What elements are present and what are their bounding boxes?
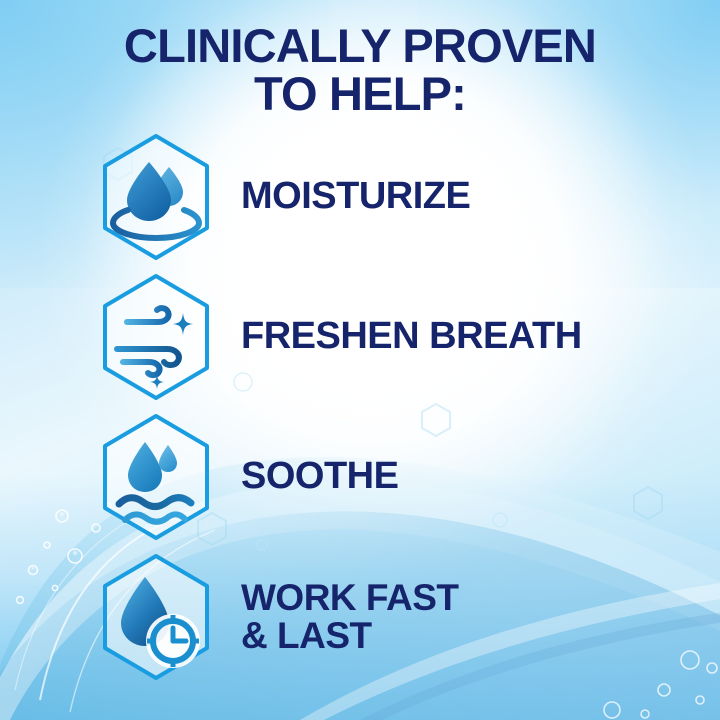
benefit-label-soothe: SOOTHE xyxy=(241,457,398,496)
benefit-item-soothe: SOOTHE xyxy=(0,407,720,547)
hex-badge-work-fast-and-last xyxy=(97,551,215,683)
headline-line-1: CLINICALLY PROVEN xyxy=(0,22,720,70)
headline: CLINICALLY PROVEN TO HELP: xyxy=(0,22,720,118)
benefit-item-freshen-breath: FRESHEN BREATH xyxy=(0,267,720,407)
hex-badge-freshen-breath xyxy=(97,271,215,403)
hex-badge-moisturize xyxy=(97,131,215,263)
droplet-waves-icon xyxy=(97,411,215,543)
benefit-label-work-fast-and-last: WORK FAST & LAST xyxy=(241,579,458,655)
water-droplets-ripple-icon xyxy=(97,131,215,263)
benefit-item-moisturize: MOISTURIZE xyxy=(0,127,720,267)
hex-badge-soothe xyxy=(97,411,215,543)
promo-poster: CLINICALLY PROVEN TO HELP: xyxy=(0,0,720,720)
benefit-label-freshen-breath: FRESHEN BREATH xyxy=(241,317,582,356)
droplet-clock-icon xyxy=(97,551,215,683)
benefit-item-work-fast-and-last: WORK FAST & LAST xyxy=(0,547,720,687)
headline-line-2: TO HELP: xyxy=(0,70,720,118)
benefit-label-moisturize: MOISTURIZE xyxy=(241,177,470,216)
benefit-list: MOISTURIZE xyxy=(0,127,720,687)
wind-sparkle-icon xyxy=(97,271,215,403)
